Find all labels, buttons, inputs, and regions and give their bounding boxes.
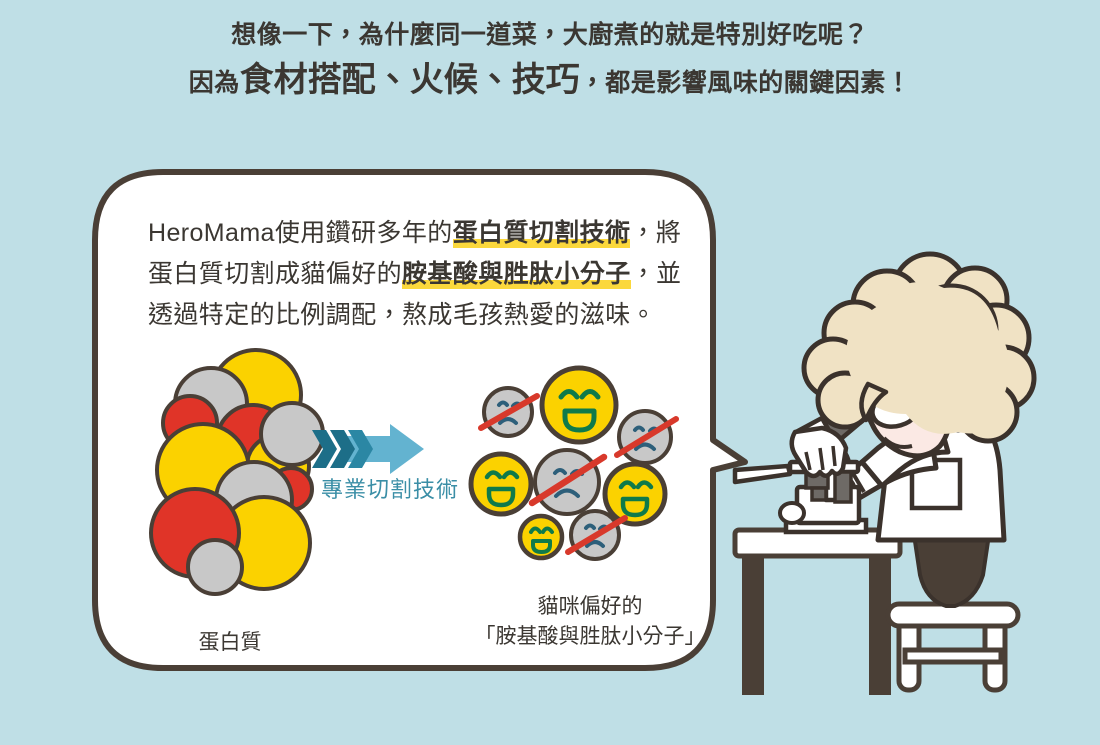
microscope-knob xyxy=(780,503,804,523)
slide-sheet xyxy=(735,466,790,482)
microscope-objective xyxy=(812,488,826,500)
table-leg xyxy=(869,555,891,695)
card-line-2-a: 蛋白質切割成貓偏好的 xyxy=(148,260,402,288)
card-line-1: HeroMama使用鑽研多年的蛋白質切割技術，將 xyxy=(148,213,708,254)
amino-caption-line-2: 「胺基酸與胜肽小分子」 xyxy=(400,622,780,652)
card-line-2: 蛋白質切割成貓偏好的胺基酸與胜肽小分子，並 xyxy=(148,254,708,295)
protein-blob xyxy=(261,403,323,465)
infographic-canvas: 想像一下，為什麼同一道菜，大廚煮的就是特別好吃呢？ 因為食材搭配、火候、技巧，都… xyxy=(0,0,1100,745)
happy-face xyxy=(605,464,665,524)
happy-face xyxy=(520,516,562,558)
happy-face xyxy=(542,368,616,442)
amino-caption: 貓咪偏好的 「胺基酸與胜肽小分子」 xyxy=(400,592,780,652)
stool xyxy=(888,604,1018,690)
curly-hair xyxy=(804,254,1034,441)
card-line-2-b: ，並 xyxy=(631,260,682,288)
happy-face xyxy=(471,454,531,514)
card-line-2-highlight: 胺基酸與胜肽小分子 xyxy=(402,260,631,289)
card-line-1-a: HeroMama使用鑽研多年的 xyxy=(148,219,453,247)
card-line-1-highlight: 蛋白質切割技術 xyxy=(453,219,631,248)
card-body-text: HeroMama使用鑽研多年的蛋白質切割技術，將 蛋白質切割成貓偏好的胺基酸與胜… xyxy=(148,213,708,336)
amino-caption-line-1: 貓咪偏好的 xyxy=(400,592,780,622)
microscope-focus-block xyxy=(835,472,851,502)
protein-caption: 蛋白質 xyxy=(140,628,320,658)
card-line-1-b: ，將 xyxy=(630,219,681,247)
stool-crossbar xyxy=(905,650,1001,662)
arrow-label: 專業切割技術 xyxy=(300,472,480,504)
card-line-3: 透過特定的比例調配，熬成毛孩熱愛的滋味。 xyxy=(148,295,708,336)
protein-blob xyxy=(188,540,242,594)
